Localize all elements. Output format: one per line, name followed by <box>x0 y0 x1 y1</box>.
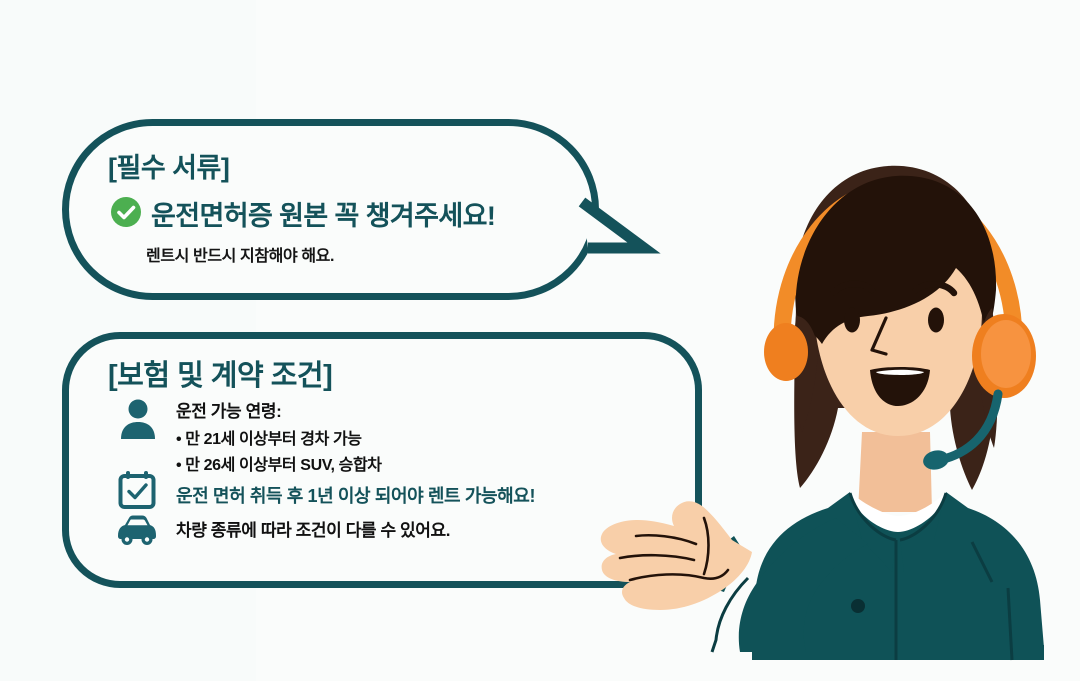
driving-age-bullet-1: • 만 21세 이상부터 경차 가능 <box>176 425 362 449</box>
required-documents-headline: 운전면허증 원본 꼭 챙겨주세요! <box>151 194 495 233</box>
vehicle-type-note: 차량 종류에 따라 조건이 다를 수 있어요. <box>176 516 450 541</box>
driving-age-label: 운전 가능 연령: <box>176 397 281 422</box>
infographic-canvas: [필수 서류] 운전면허증 원본 꼭 챙겨주세요! 렌트시 반드시 지참해야 해… <box>0 0 1080 681</box>
license-duration-highlight: 운전 면허 취득 후 1년 이상 되어야 렌트 가능해요! <box>176 482 535 508</box>
open-palm-hand <box>601 501 752 610</box>
calendar-check-icon <box>118 470 156 510</box>
required-documents-heading: [필수 서류] <box>108 146 229 185</box>
person-icon <box>118 398 158 440</box>
check-circle-icon <box>110 196 142 228</box>
customer-service-agent-illustration <box>600 140 1080 681</box>
car-icon <box>116 512 158 546</box>
insurance-terms-heading: [보험 및 계약 조건] <box>108 352 332 394</box>
driving-age-bullet-2: • 만 26세 이상부터 SUV, 승합차 <box>176 451 382 475</box>
required-documents-subline: 렌트시 반드시 지참해야 해요. <box>146 242 334 266</box>
